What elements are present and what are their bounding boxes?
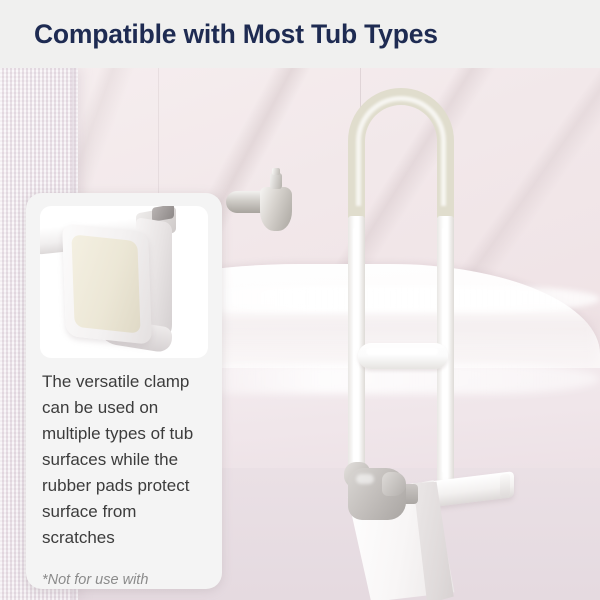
info-card: The versatile clamp can be used on multi… (26, 193, 222, 589)
grab-bar-arch-highlight (356, 96, 446, 206)
grab-bar-crossbar (358, 343, 448, 369)
grab-bar-crossbar-highlight (366, 348, 438, 355)
faucet-icon (222, 163, 294, 243)
header-banner: Compatible with Most Tub Types (0, 0, 600, 68)
info-card-footnote: *Not for use with fiberglass tubs (42, 570, 212, 589)
faucet-diverter-knob-top (272, 168, 280, 175)
rubber-pad (71, 234, 140, 333)
clamp-knob-highlight (356, 474, 374, 484)
clamp-plate-lip (500, 473, 510, 496)
info-card-body: The versatile clamp can be used on multi… (42, 369, 212, 589)
product-infographic: Compatible with Most Tub Types (0, 0, 600, 600)
faucet-spout-head (260, 187, 292, 231)
grab-bar-left-leg-highlight (353, 228, 357, 493)
page-title: Compatible with Most Tub Types (34, 19, 438, 50)
clamp-closeup-photo (40, 206, 208, 358)
tub-grab-bar (330, 78, 510, 558)
product-scene-photo: The versatile clamp can be used on multi… (0, 68, 600, 600)
clamp-knob-lobe-right (382, 472, 406, 496)
faucet-diverter-knob (270, 173, 282, 189)
info-card-description: The versatile clamp can be used on multi… (42, 369, 212, 551)
